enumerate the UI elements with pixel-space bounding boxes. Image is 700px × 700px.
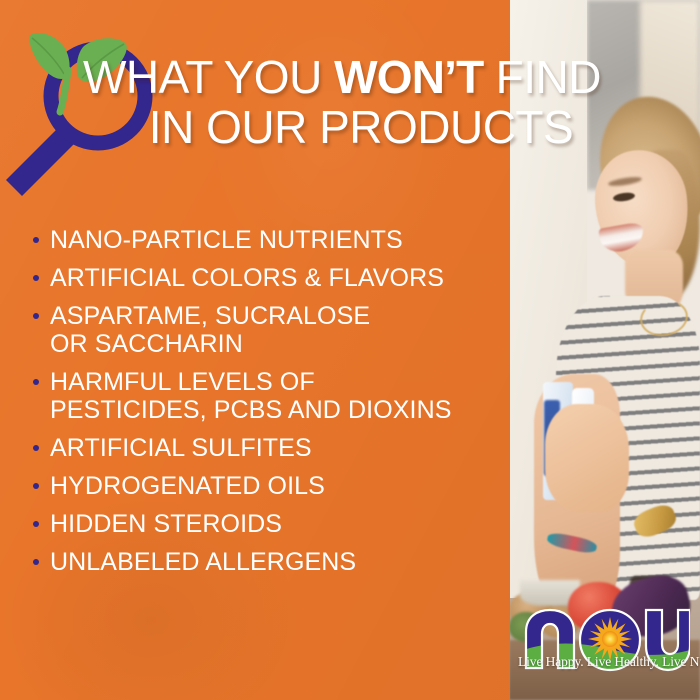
list-item-label: ARTIFICIAL COLORS & FLAVORS	[50, 264, 444, 292]
list-item: HARMFUL LEVELS OF PESTICIDES, PCBS AND D…	[30, 368, 500, 424]
bullet-icon	[33, 379, 39, 385]
list-item-label: ASPARTAME, SUCRALOSE OR SACCHARIN	[50, 302, 370, 358]
list-item-label: ARTIFICIAL SULFITES	[50, 434, 312, 462]
woman-hand	[545, 404, 629, 512]
bullet-icon	[33, 445, 39, 451]
bullet-icon	[33, 313, 39, 319]
list-item: ARTIFICIAL SULFITES	[30, 434, 500, 462]
list-item-label: HARMFUL LEVELS OF PESTICIDES, PCBS AND D…	[50, 368, 452, 424]
list-item: ASPARTAME, SUCRALOSE OR SACCHARIN	[30, 302, 500, 358]
list-item: NANO-PARTICLE NUTRIENTS	[30, 226, 500, 254]
promo-graphic: WHAT YOU WON’T FIND IN OUR PRODUCTS NANO…	[0, 0, 700, 700]
title-line-1: WHAT YOU WON’T FIND	[0, 52, 684, 102]
title-emphasis: WON’T	[334, 51, 483, 103]
list-item-label: HYDROGENATED OILS	[50, 472, 325, 500]
title-part-1: WHAT YOU	[83, 51, 334, 103]
title-part-2: FIND	[483, 51, 601, 103]
bullet-icon	[33, 483, 39, 489]
exclusion-list: NANO-PARTICLE NUTRIENTS ARTIFICIAL COLOR…	[30, 226, 500, 586]
list-item-label: UNLABELED ALLERGENS	[50, 548, 356, 576]
bullet-icon	[33, 559, 39, 565]
list-item-label: NANO-PARTICLE NUTRIENTS	[50, 226, 403, 254]
list-item: UNLABELED ALLERGENS	[30, 548, 500, 576]
list-item: HYDROGENATED OILS	[30, 472, 500, 500]
bullet-icon	[33, 521, 39, 527]
list-item: HIDDEN STEROIDS	[30, 510, 500, 538]
list-item: ARTIFICIAL COLORS & FLAVORS	[30, 264, 500, 292]
bullet-icon	[33, 237, 39, 243]
list-item-label: HIDDEN STEROIDS	[50, 510, 282, 538]
page-title: WHAT YOU WON’T FIND IN OUR PRODUCTS	[0, 52, 700, 152]
brand-tagline: Live Happy. Live Healthy. Live NOW.	[518, 654, 690, 670]
title-line-2: IN OUR PRODUCTS	[0, 102, 684, 152]
bullet-icon	[33, 275, 39, 281]
